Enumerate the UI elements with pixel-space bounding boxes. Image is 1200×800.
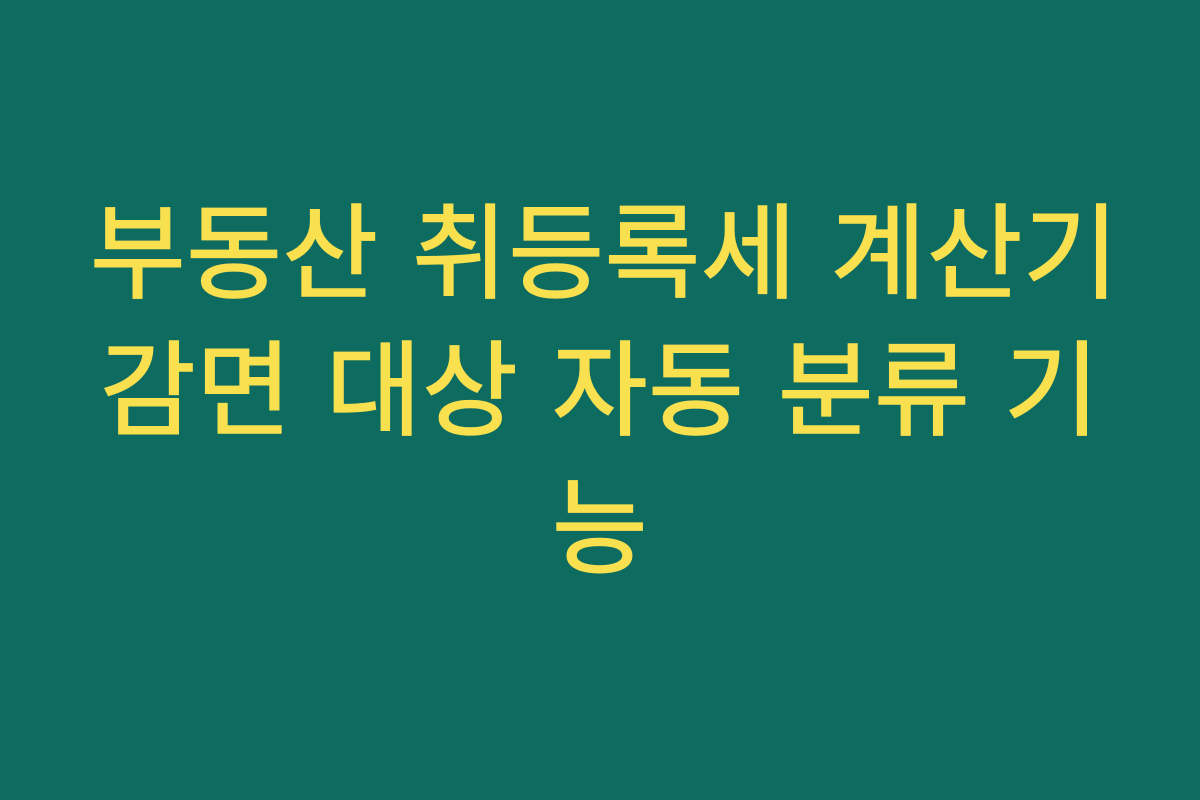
page-title: 부동산 취등록세 계산기 감면 대상 자동 분류 기 능 [90,186,1110,598]
title-line-2: 감면 대상 자동 분류 기 [90,323,1110,460]
title-line-3: 능 [90,461,1110,598]
thumbnail-card: 부동산 취등록세 계산기 감면 대상 자동 분류 기 능 [0,0,1200,800]
title-block: 부동산 취등록세 계산기 감면 대상 자동 분류 기 능 [90,186,1110,598]
title-line-1: 부동산 취등록세 계산기 [90,186,1110,323]
